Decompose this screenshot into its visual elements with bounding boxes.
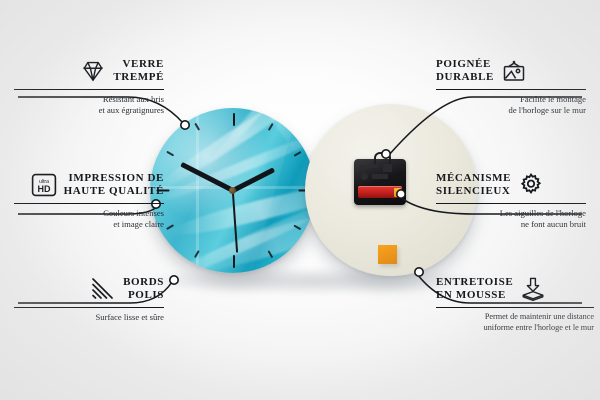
feature-title-line2: SILENCIEUX — [436, 185, 510, 197]
hanger-tab-icon — [374, 152, 391, 164]
feature-title-line1: IMPRESSION DE — [68, 172, 164, 184]
divider — [436, 89, 586, 90]
hour-marker — [233, 113, 235, 126]
feature-title-line2: TREMPÉ — [113, 71, 164, 83]
divider — [436, 203, 586, 204]
feature-title-line1: VERRE — [122, 58, 164, 70]
feature-entretoise-en-mousse[interactable]: ENTRETOISE EN MOUSSE Permet de maintenir… — [436, 276, 594, 333]
feature-title-line2: POLIS — [128, 289, 164, 301]
hour-marker — [233, 255, 235, 268]
feature-sub-line2: uniforme entre l'horloge et le mur — [484, 323, 594, 332]
feature-title-line2: HAUTE QUALITÉ — [64, 185, 164, 197]
feature-title-line1: MÉCANISME — [436, 172, 511, 184]
feature-sub-line1: Résistant aux bris — [103, 94, 164, 104]
polished-edge-icon — [90, 276, 116, 302]
movement-detail — [361, 173, 368, 180]
feature-sub-line2: ne font aucun bruit — [521, 219, 586, 229]
divider — [14, 89, 164, 90]
feature-sub-line1: Permet de maintenir une distance — [485, 312, 594, 321]
glass-reflection-line — [196, 108, 199, 273]
diamond-icon — [80, 58, 106, 84]
divider — [14, 307, 164, 308]
feature-sub-line2: de l'horloge sur le mur — [509, 105, 586, 115]
battery-terminal — [394, 188, 401, 197]
ultra-hd-icon: ultra HD — [31, 172, 57, 198]
foam-spacer-icon — [520, 276, 546, 302]
feature-sub-line1: Couleurs intenses — [103, 208, 164, 218]
feature-title-line2: EN MOUSSE — [436, 289, 506, 301]
gear-icon — [518, 172, 544, 198]
feature-title-line1: POIGNÉE — [436, 58, 491, 70]
clock-front-face — [150, 108, 315, 273]
movement-detail — [372, 174, 388, 179]
picture-hanger-icon — [501, 58, 527, 84]
feature-title-line2: DURABLE — [436, 71, 494, 83]
feature-sub-line2: et aux égratignures — [99, 105, 164, 115]
feature-sub-line1: Surface lisse et sûre — [96, 312, 165, 322]
foam-spacer — [378, 245, 397, 264]
hand-cap — [229, 187, 236, 194]
infographic-canvas: VERRE TREMPÉ Résistant aux bris et aux é… — [0, 0, 600, 400]
divider — [436, 307, 594, 308]
feature-title-line1: BORDS — [123, 276, 164, 288]
feature-impression-haute-qualite[interactable]: ultra HD IMPRESSION DE HAUTE QUALITÉ Cou… — [14, 172, 164, 229]
feature-sub-line1: Facilite le montage — [520, 94, 586, 104]
feature-sub-line2: et image claire — [113, 219, 164, 229]
battery — [358, 186, 402, 198]
feature-bords-polis[interactable]: BORDS POLIS Surface lisse et sûre — [14, 276, 164, 323]
svg-text:HD: HD — [37, 184, 50, 194]
feature-mecanisme-silencieux[interactable]: MÉCANISME SILENCIEUX Les aiguilles de l'… — [436, 172, 586, 229]
feature-title-line1: ENTRETOISE — [436, 276, 513, 288]
movement-detail — [360, 165, 378, 168]
divider — [14, 203, 164, 204]
clock-movement — [354, 159, 406, 205]
feature-poignee-durable[interactable]: POIGNÉE DURABLE Facilite le montage de l… — [436, 58, 586, 115]
movement-detail — [383, 164, 392, 172]
feature-sub-line1: Les aiguilles de l'horloge — [500, 208, 586, 218]
feature-verre-trempe[interactable]: VERRE TREMPÉ Résistant aux bris et aux é… — [14, 58, 164, 115]
